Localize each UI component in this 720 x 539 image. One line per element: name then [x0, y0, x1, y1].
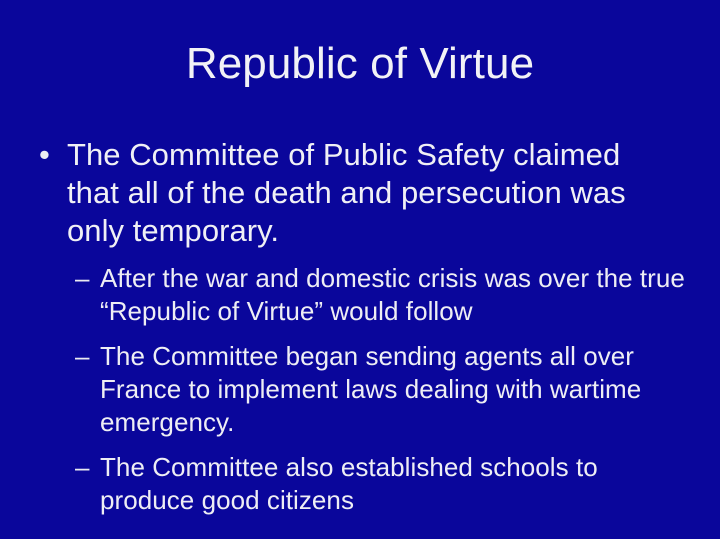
bullet-item-level2: – The Committee also established schools…: [0, 451, 720, 517]
bullet-item-level1: • The Committee of Public Safety claimed…: [0, 136, 720, 250]
presentation-slide: Republic of Virtue • The Committee of Pu…: [0, 0, 720, 539]
bullet-text-level2: After the war and domestic crisis was ov…: [100, 262, 690, 328]
bullet-dot-icon: •: [39, 136, 59, 174]
sub-bullet-group: – After the war and domestic crisis was …: [0, 262, 720, 517]
bullet-dash-icon: –: [75, 262, 97, 295]
bullet-text-level1: The Committee of Public Safety claimed t…: [67, 136, 648, 250]
bullet-dash-icon: –: [75, 451, 97, 484]
bullet-text-level2: The Committee began sending agents all o…: [100, 340, 690, 439]
slide-title: Republic of Virtue: [0, 40, 720, 88]
bullet-dash-icon: –: [75, 340, 97, 373]
bullet-item-level2: – The Committee began sending agents all…: [0, 340, 720, 439]
slide-body-content: • The Committee of Public Safety claimed…: [0, 136, 720, 517]
bullet-item-level2: – After the war and domestic crisis was …: [0, 262, 720, 328]
bullet-text-level2: The Committee also established schools t…: [100, 451, 690, 517]
